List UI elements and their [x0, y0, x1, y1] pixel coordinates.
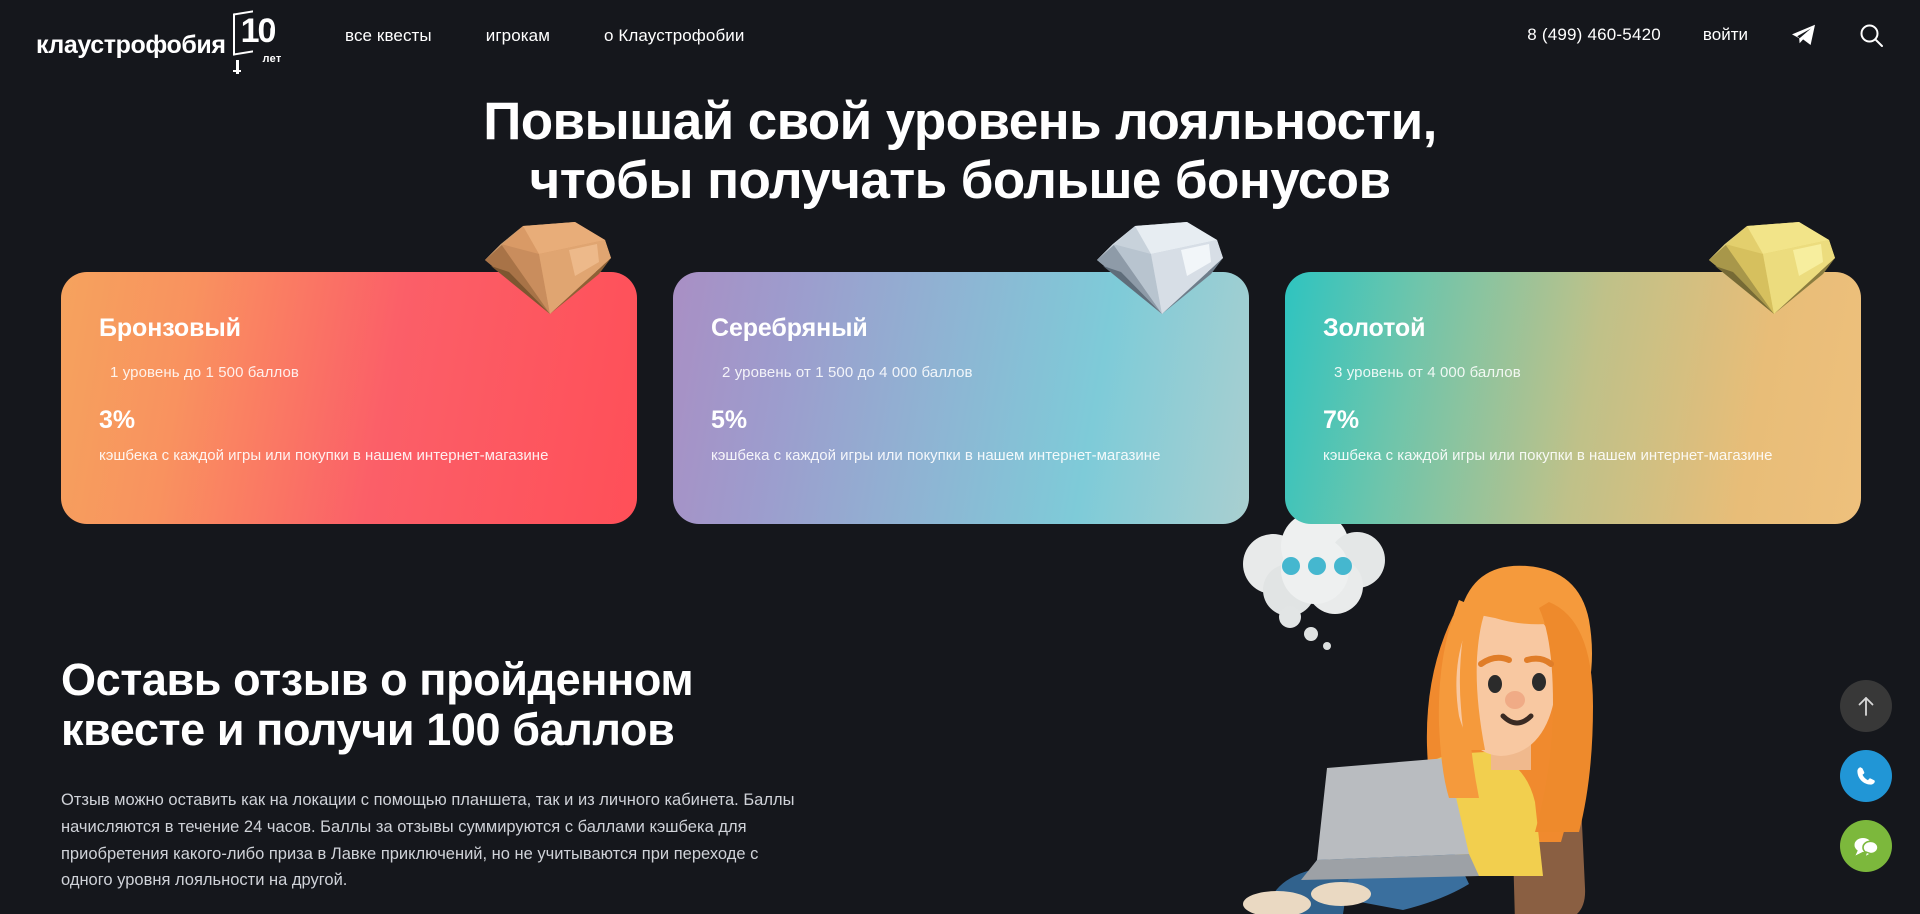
review-title-line-2: квесте и получи 100 баллов: [61, 705, 861, 755]
chat-button[interactable]: [1840, 820, 1892, 872]
card-cashback-description: кэшбека с каждой игры или покупки в наше…: [1323, 445, 1778, 466]
phone-link[interactable]: 8 (499) 460-5420: [1527, 25, 1661, 45]
card-cashback-percent: 5%: [711, 408, 1211, 433]
level-card-bronze[interactable]: Бронзовый 1 уровень до 1 500 баллов 3% к…: [61, 272, 637, 524]
nav-players[interactable]: игрокам: [486, 26, 550, 46]
floating-action-buttons: [1840, 680, 1892, 872]
card-title: Бронзовый: [99, 316, 599, 341]
loyalty-level-cards: Бронзовый 1 уровень до 1 500 баллов 3% к…: [61, 272, 1861, 524]
card-title: Серебряный: [711, 316, 1211, 341]
review-description: Отзыв можно оставить как на локации с по…: [61, 787, 806, 895]
woman-with-laptop-illustration: [1215, 504, 1635, 914]
page-title-line-1: Повышай свой уровень лояльности,: [483, 92, 1437, 151]
level-card-gold[interactable]: Золотой 3 уровень от 4 000 баллов 7% кэш…: [1285, 272, 1861, 524]
logo-keyhole-shape: [264, 23, 271, 30]
arrow-up-icon: [1856, 695, 1876, 717]
main-navigation: все квесты игрокам о Клаустрофобии: [345, 26, 744, 46]
review-title: Оставь отзыв о пройденном квесте и получ…: [61, 655, 861, 756]
login-link[interactable]: войти: [1703, 25, 1748, 45]
page-title-line-2: чтобы получать больше бонусов: [0, 151, 1920, 210]
logo-badge-unit: лет: [262, 53, 281, 65]
card-cashback-description: кэшбека с каждой игры или покупки в наше…: [711, 445, 1166, 466]
chat-bubble-icon: [1853, 834, 1879, 858]
card-level-range: 3 уровень от 4 000 баллов: [1334, 364, 1823, 381]
loyalty-page: клаустрофобия 10 лет все квесты игрокам …: [0, 0, 1920, 914]
logo-wordmark: клаустрофобия: [36, 33, 226, 58]
nav-about[interactable]: о Клаустрофобии: [604, 26, 744, 46]
card-level-range: 2 уровень от 1 500 до 4 000 баллов: [722, 364, 1211, 381]
phone-icon: [1854, 764, 1878, 788]
level-card-silver[interactable]: Серебряный 2 уровень от 1 500 до 4 000 б…: [673, 272, 1249, 524]
site-logo[interactable]: клаустрофобия 10 лет: [36, 12, 283, 64]
thought-bubble-shape: [1243, 512, 1385, 650]
logo-key-shape: [236, 60, 239, 74]
review-section: Оставь отзыв о пройденном квесте и получ…: [61, 655, 861, 894]
logo-badge-number: 10: [241, 14, 275, 48]
telegram-icon[interactable]: [1790, 22, 1816, 48]
card-level-range: 1 уровень до 1 500 баллов: [110, 364, 599, 381]
review-title-line-1: Оставь отзыв о пройденном: [61, 654, 693, 705]
card-cashback-description: кэшбека с каждой игры или покупки в наше…: [99, 445, 554, 466]
card-content-silver: Серебряный 2 уровень от 1 500 до 4 000 б…: [711, 316, 1211, 524]
door-key-icon: 10 лет: [227, 12, 283, 64]
card-cashback-percent: 7%: [1323, 408, 1823, 433]
header-actions: 8 (499) 460-5420 войти: [1527, 22, 1884, 48]
card-content-bronze: Бронзовый 1 уровень до 1 500 баллов 3% к…: [99, 316, 599, 524]
page-title: Повышай свой уровень лояльности, чтобы п…: [0, 92, 1920, 211]
nav-all-quests[interactable]: все квесты: [345, 26, 432, 46]
search-icon[interactable]: [1858, 22, 1884, 48]
card-cashback-percent: 3%: [99, 408, 599, 433]
card-content-gold: Золотой 3 уровень от 4 000 баллов 7% кэш…: [1323, 316, 1823, 524]
card-title: Золотой: [1323, 316, 1823, 341]
call-button[interactable]: [1840, 750, 1892, 802]
site-header: клаустрофобия 10 лет все квесты игрокам …: [0, 0, 1920, 80]
scroll-to-top-button[interactable]: [1840, 680, 1892, 732]
